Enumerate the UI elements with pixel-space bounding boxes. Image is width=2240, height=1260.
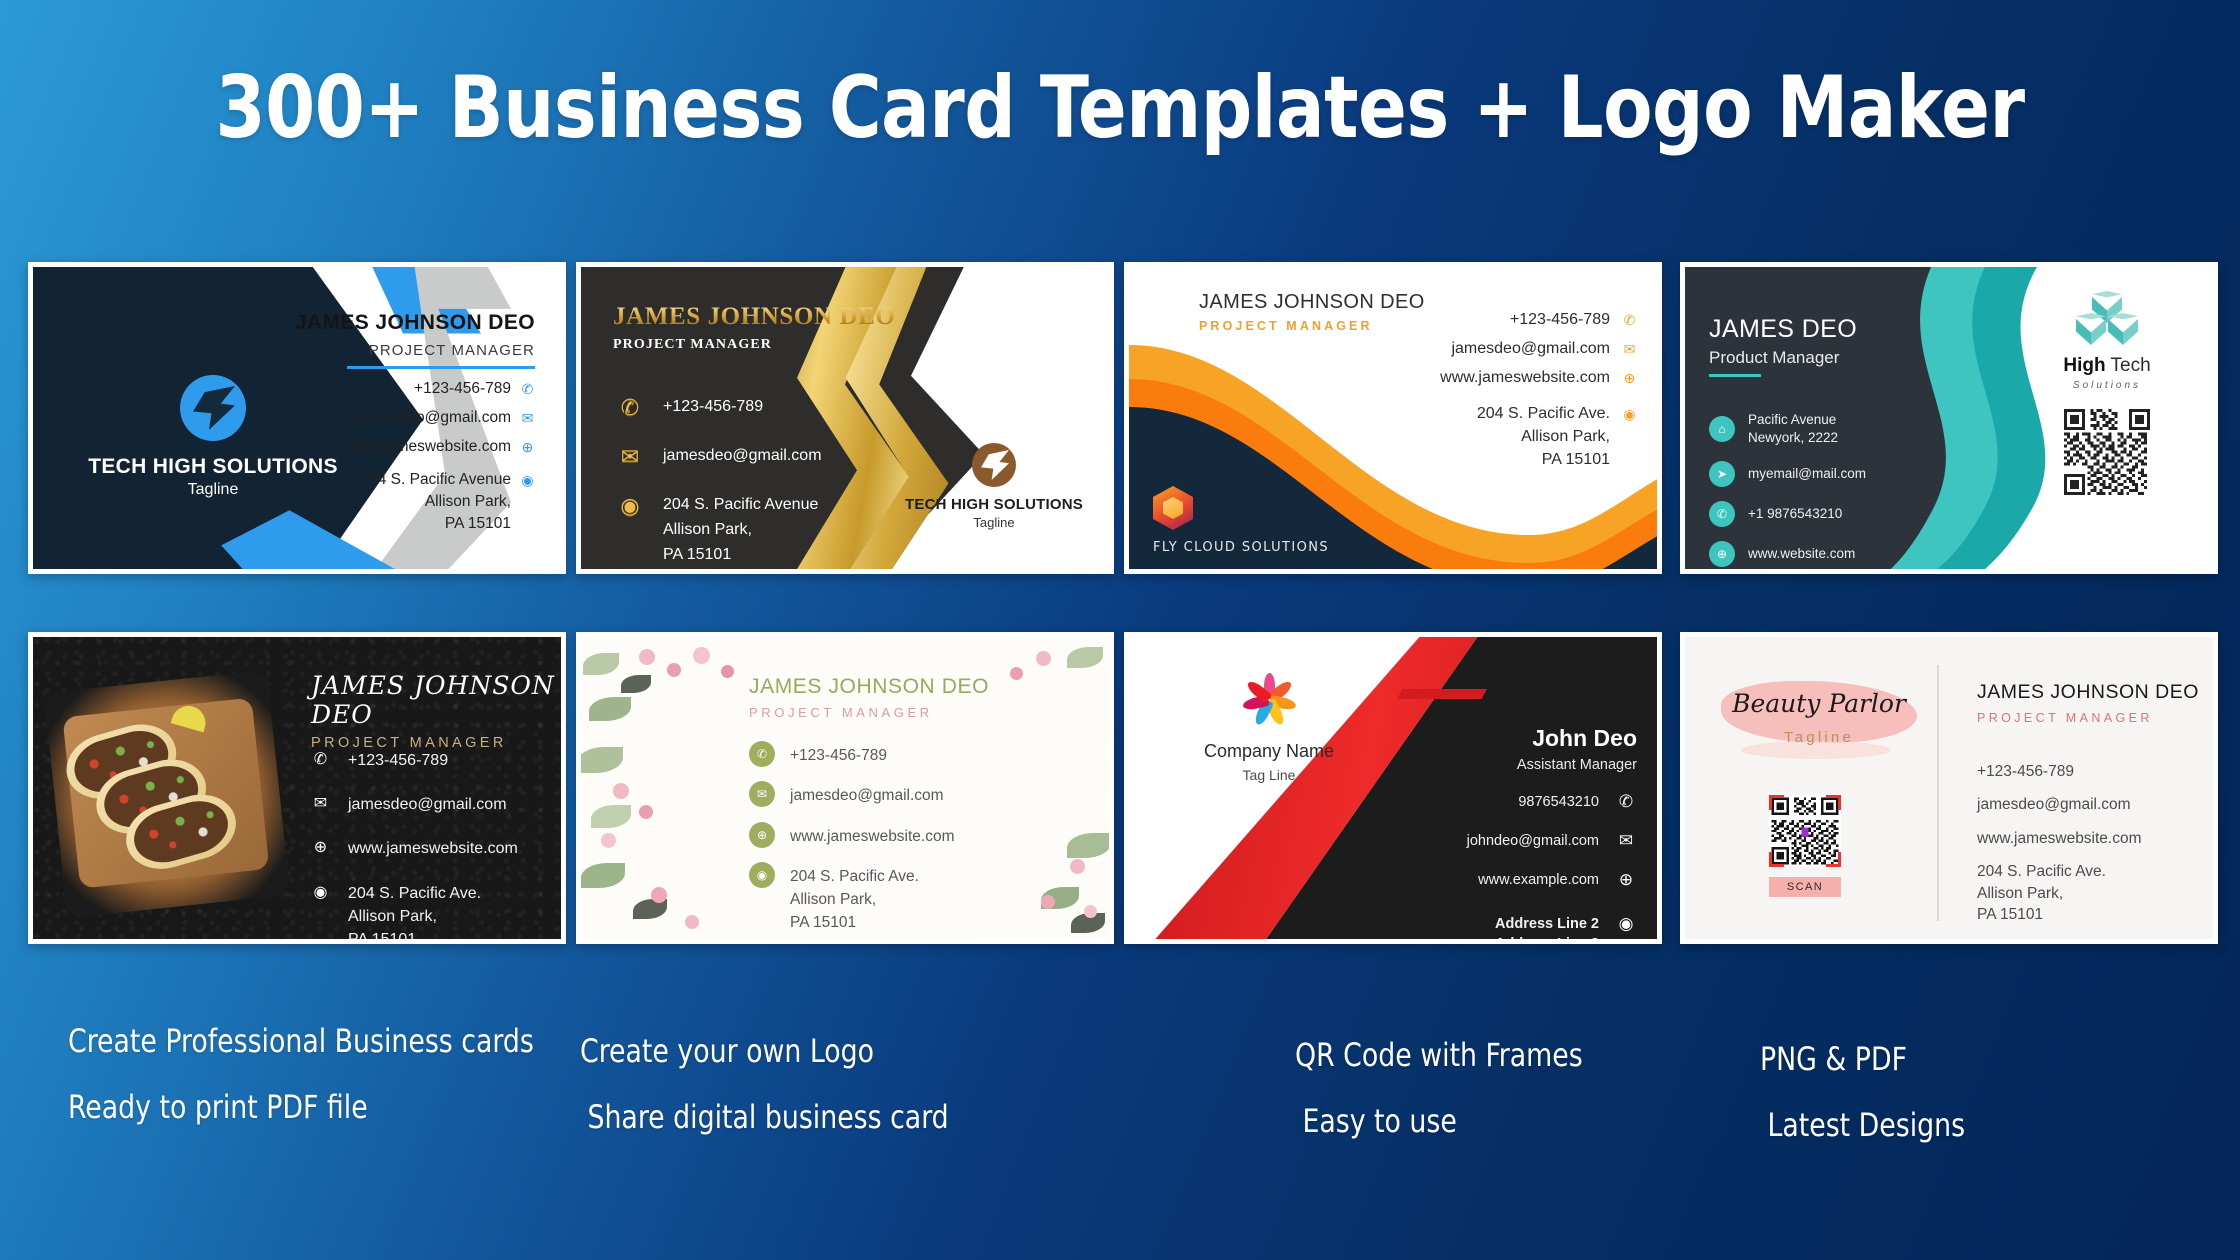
address-row: 204 S. Pacific Avenue ◉ bbox=[285, 471, 535, 489]
email-row: ✉ jamesdeo@gmail.com bbox=[311, 793, 518, 816]
address-line-3: PA 15101 bbox=[790, 914, 856, 931]
email-row: ➤ myemail@mail.com bbox=[1709, 461, 1866, 487]
phone-row: ✆ +123-456-789 bbox=[749, 741, 955, 767]
phone-icon: ✆ bbox=[1622, 312, 1637, 329]
phone-icon: ✆ bbox=[520, 381, 535, 398]
feature-text: PNG & PDF bbox=[1760, 1040, 1965, 1078]
website-value: www.jameswebsite.com bbox=[346, 438, 511, 456]
business-card-tech-high-solutions-gold[interactable]: JAMES JOHNSON DEO PROJECT MANAGER ✆ +123… bbox=[576, 262, 1114, 574]
phone-row: ✆ +1 9876543210 bbox=[1709, 501, 1866, 527]
email-value: jamesdeo@gmail.com bbox=[663, 444, 822, 469]
business-card-food-restaurant-dark[interactable]: JAMES JOHNSON DEO PROJECT MANAGER ✆ +123… bbox=[28, 632, 566, 944]
email-icon: ✉ bbox=[749, 781, 775, 807]
card-contact-info: ✆ +123-456-789 ✉ jamesdeo@gmail.com ⊕ ww… bbox=[749, 741, 955, 939]
card-logo-block: TECH HIGH SOLUTIONS Tagline bbox=[889, 443, 1099, 530]
card-contact-info: ⌂ Pacific Avenue Newyork, 2222 ➤ myemail… bbox=[1709, 411, 1866, 569]
address-line-2: Allison Park, bbox=[1977, 883, 2142, 904]
card-contact-info: +123-456-789 ✆ jamesdeo@gmail.com ✉ www.… bbox=[1385, 311, 1637, 469]
feature-column-3: QR Code with Frames Easy to use bbox=[1295, 1036, 1583, 1168]
phone-row: +123-456-789 ✆ bbox=[285, 380, 535, 398]
email-icon: ✉ bbox=[617, 444, 643, 470]
address-row: ◉ 204 S. Pacific Ave. Allison Park, PA 1… bbox=[311, 882, 518, 939]
card-logo-block: FLY CLOUD SOLUTIONS bbox=[1153, 486, 1329, 555]
phone-value: +123-456-789 bbox=[1510, 311, 1610, 329]
person-name: JAMES JOHNSON DEO bbox=[749, 675, 989, 699]
qr-code-block[interactable]: SCAN bbox=[1769, 795, 1841, 897]
hexagon-cube-logo-icon bbox=[1153, 486, 1193, 530]
address-line-1: 204 S. Pacific Avenue bbox=[360, 471, 511, 489]
email-value: myemail@mail.com bbox=[1748, 465, 1866, 483]
phone-icon: ✆ bbox=[1615, 792, 1637, 812]
person-role: PROJECT MANAGER bbox=[613, 337, 895, 353]
address-line-2: Allison Park, bbox=[348, 908, 437, 925]
address-line-3: PA 15101 bbox=[1385, 451, 1637, 469]
website-row: ⊕ www.jameswebsite.com bbox=[311, 837, 518, 860]
address-block: 204 S. Pacific Ave. Allison Park, PA 151… bbox=[348, 882, 481, 939]
website-row: www.jameswebsite.com ⊕ bbox=[1385, 369, 1637, 387]
card-contact-info: John Deo Assistant Manager 9876543210 ✆ … bbox=[1387, 725, 1637, 939]
address-row: 204 S. Pacific Ave. ◉ bbox=[1385, 405, 1637, 423]
company-tagline: Tag Line bbox=[1165, 767, 1373, 783]
email-value: jamesdeo@gmail.com bbox=[1451, 340, 1610, 358]
address-line-3: PA 15101 bbox=[663, 546, 731, 563]
feature-text: Latest Designs bbox=[1760, 1106, 1965, 1144]
address-block: 204 S. Pacific Avenue Allison Park, PA 1… bbox=[663, 493, 818, 567]
swoosh-logo-icon bbox=[972, 443, 1016, 487]
card-header: JAMES JOHNSON DEO PROJECT MANAGER bbox=[1977, 681, 2199, 725]
feature-column-4: PNG & PDF Latest Designs bbox=[1760, 1040, 1965, 1172]
feature-text: QR Code with Frames bbox=[1295, 1036, 1583, 1074]
location-pin-icon: ◉ bbox=[1615, 914, 1637, 934]
location-pin-icon: ◉ bbox=[520, 472, 535, 489]
phone-row: ✆ +123-456-789 bbox=[617, 395, 822, 421]
feature-text: Ready to print PDF file bbox=[68, 1088, 534, 1126]
phone-icon: ✆ bbox=[311, 749, 330, 769]
card-header: JAMES JOHNSON DEO PROJECT MANAGER bbox=[749, 675, 989, 720]
company-tagline: Tagline bbox=[889, 515, 1099, 530]
person-name: JAMES JOHNSON DEO bbox=[311, 671, 561, 729]
email-icon: ✉ bbox=[1615, 831, 1637, 851]
divider bbox=[1709, 374, 1761, 377]
qr-code-icon bbox=[2064, 409, 2150, 495]
website-value: www.jameswebsite.com bbox=[790, 822, 955, 848]
star-flower-logo-icon bbox=[1242, 673, 1296, 727]
person-name: JAMES JOHNSON DEO bbox=[1977, 681, 2199, 704]
qr-frame-corner-tl bbox=[1769, 795, 1784, 810]
card-contact-info: +123-456-789 jamesdeo@gmail.com www.jame… bbox=[1977, 761, 2142, 937]
address-line-1: 204 S. Pacific Ave. bbox=[1977, 861, 2142, 882]
feature-list: Create Professional Business cards Ready… bbox=[0, 1000, 2240, 1200]
globe-icon: ⊕ bbox=[311, 837, 330, 857]
person-name: JAMES JOHNSON DEO bbox=[613, 303, 895, 331]
email-value: johndeo@gmail.com bbox=[1467, 833, 1599, 849]
card-contact-info: JAMES JOHNSON DEO PROJECT MANAGER +123-4… bbox=[285, 311, 535, 533]
location-pin-icon: ◉ bbox=[1622, 406, 1637, 423]
location-pin-icon: ◉ bbox=[749, 862, 775, 888]
company-name: FLY CLOUD SOLUTIONS bbox=[1153, 540, 1329, 555]
email-icon: ✉ bbox=[520, 410, 535, 427]
company-name: High Tech bbox=[2017, 355, 2197, 377]
card-header: JAMES JOHNSON DEO PROJECT MANAGER bbox=[613, 303, 895, 353]
location-pin-icon: ◉ bbox=[617, 493, 643, 519]
phone-value: +123-456-789 bbox=[348, 749, 448, 772]
address-line-2: Allison Park, bbox=[285, 493, 535, 511]
address-line-1: Pacific Avenue bbox=[1748, 412, 1836, 427]
red-tab-shape bbox=[1397, 689, 1487, 699]
company-name-bold: High bbox=[2063, 355, 2105, 376]
address-line-1: 204 S. Pacific Avenue bbox=[663, 496, 818, 513]
person-role: PROJECT MANAGER bbox=[285, 342, 535, 359]
email-value: jamesdeo@gmail.com bbox=[790, 781, 944, 807]
phone-value: +123-456-789 bbox=[414, 380, 511, 398]
address-row: ◉ 204 S. Pacific Ave. Allison Park, PA 1… bbox=[749, 862, 955, 935]
person-name: JAMES DEO bbox=[1709, 315, 1857, 344]
card-row-1: TECH HIGH SOLUTIONS Tagline JAMES JOHNSO… bbox=[0, 262, 2240, 574]
globe-icon: ⊕ bbox=[1615, 870, 1637, 890]
qr-code-framed bbox=[1769, 795, 1841, 867]
scan-label: SCAN bbox=[1769, 877, 1841, 897]
address-row: ⌂ Pacific Avenue Newyork, 2222 bbox=[1709, 411, 1866, 447]
email-icon: ✉ bbox=[311, 793, 330, 813]
website-row: ⊕ www.jameswebsite.com bbox=[749, 822, 955, 848]
address-line-1: 204 S. Pacific Ave. bbox=[1477, 405, 1610, 423]
website-value: www.jameswebsite.com bbox=[348, 837, 518, 860]
swoosh-logo-icon bbox=[180, 375, 246, 441]
globe-icon: ⊕ bbox=[749, 822, 775, 848]
person-role: Product Manager bbox=[1709, 348, 1857, 368]
card-row-2: JAMES JOHNSON DEO PROJECT MANAGER ✆ +123… bbox=[0, 632, 2240, 944]
business-card-floral-watercolor[interactable]: JAMES JOHNSON DEO PROJECT MANAGER ✆ +123… bbox=[576, 632, 1114, 944]
card-logo-block: Company Name Tag Line bbox=[1165, 673, 1373, 783]
address-block: Pacific Avenue Newyork, 2222 bbox=[1748, 411, 1838, 447]
qr-frame-corner-bl bbox=[1769, 852, 1784, 867]
globe-icon: ⊕ bbox=[1622, 370, 1637, 387]
person-name: John Deo bbox=[1387, 725, 1637, 752]
address-line-1: Address Line 2 bbox=[1495, 916, 1599, 932]
website-value: www.example.com bbox=[1478, 872, 1599, 888]
vertical-divider bbox=[1937, 665, 1939, 921]
feature-column-1: Create Professional Business cards Ready… bbox=[68, 1022, 534, 1154]
company-name: TECH HIGH SOLUTIONS bbox=[889, 496, 1099, 513]
address-line-2: Allison Park, bbox=[790, 891, 876, 908]
phone-icon: ✆ bbox=[617, 395, 643, 421]
email-row: johndeo@gmail.com ✉ bbox=[1387, 831, 1637, 851]
feature-text: Create Professional Business cards bbox=[68, 1022, 534, 1060]
feature-text: Easy to use bbox=[1295, 1102, 1583, 1140]
feature-text: Create your own Logo bbox=[580, 1032, 949, 1070]
person-role: Assistant Manager bbox=[1387, 757, 1637, 773]
business-card-beauty-parlor-qr[interactable]: Beauty Parlor Tagline bbox=[1680, 632, 2218, 944]
divider bbox=[347, 366, 535, 369]
website-value: www.jameswebsite.com bbox=[1977, 828, 2142, 849]
business-card-grid: TECH HIGH SOLUTIONS Tagline JAMES JOHNSO… bbox=[0, 262, 2240, 944]
company-name-light: Tech bbox=[2111, 355, 2151, 376]
email-value: jamesdeo@gmail.com bbox=[1977, 794, 2142, 815]
phone-value: +1 9876543210 bbox=[1748, 505, 1842, 523]
person-role: PROJECT MANAGER bbox=[1977, 711, 2199, 725]
globe-icon: ⊕ bbox=[520, 439, 535, 456]
business-card-tech-high-solutions-blue[interactable]: TECH HIGH SOLUTIONS Tagline JAMES JOHNSO… bbox=[28, 262, 566, 574]
food-photo bbox=[44, 670, 290, 918]
company-name: Beauty Parlor bbox=[1719, 689, 1919, 718]
feature-text: Share digital business card bbox=[580, 1098, 949, 1136]
company-tagline: Tagline bbox=[1719, 729, 1919, 746]
email-row: ✉ jamesdeo@gmail.com bbox=[617, 444, 822, 470]
address-line-1: 204 S. Pacific Ave. bbox=[790, 868, 919, 885]
phone-row: 9876543210 ✆ bbox=[1387, 792, 1637, 812]
cubes-logo-icon bbox=[2070, 291, 2144, 349]
person-name: JAMES JOHNSON DEO bbox=[285, 311, 535, 335]
address-line-3: PA 15101 bbox=[285, 515, 535, 533]
card-header: JAMES DEO Product Manager bbox=[1709, 315, 1857, 377]
address-line-2: Newyork, 2222 bbox=[1748, 430, 1838, 445]
website-value: www.website.com bbox=[1748, 545, 1855, 563]
website-row: ⊕ www.website.com bbox=[1709, 541, 1866, 567]
phone-icon: ✆ bbox=[1709, 501, 1735, 527]
phone-icon: ✆ bbox=[749, 741, 775, 767]
email-row: jamesdeo@gmail.com ✉ bbox=[1385, 340, 1637, 358]
phone-value: +123-456-789 bbox=[790, 741, 887, 767]
company-subtitle: Solutions bbox=[2017, 380, 2197, 391]
address-row: ◉ 204 S. Pacific Avenue Allison Park, PA… bbox=[617, 493, 822, 567]
location-pin-icon: ◉ bbox=[311, 882, 330, 902]
qr-frame-corner-tr bbox=[1826, 795, 1841, 810]
business-card-fly-cloud-solutions[interactable]: JAMES JOHNSON DEO PROJECT MANAGER +123-4… bbox=[1124, 262, 1662, 574]
email-value: jamesdeo@gmail.com bbox=[357, 409, 511, 427]
address-line-2: Address Line 3 bbox=[1387, 936, 1637, 939]
address-line-3: PA 15101 bbox=[1977, 904, 2142, 925]
phone-value: +123-456-789 bbox=[663, 395, 763, 420]
website-value: www.jameswebsite.com bbox=[1440, 369, 1610, 387]
business-card-high-tech-solutions[interactable]: JAMES DEO Product Manager ⌂ Pacific Aven… bbox=[1680, 262, 2218, 574]
card-contact-info: ✆ +123-456-789 ✉ jamesdeo@gmail.com ◉ 20… bbox=[617, 395, 822, 569]
address-line-2: Allison Park, bbox=[663, 521, 752, 538]
email-row: jamesdeo@gmail.com ✉ bbox=[285, 409, 535, 427]
page-title: 300+ Business Card Templates + Logo Make… bbox=[78, 58, 2161, 158]
email-row: ✉ jamesdeo@gmail.com bbox=[749, 781, 955, 807]
address-line-2: Allison Park, bbox=[1385, 428, 1637, 446]
cursor-icon: ➤ bbox=[1709, 461, 1735, 487]
address-line-1: 204 S. Pacific Ave. bbox=[348, 885, 481, 902]
phone-value: +123-456-789 bbox=[1977, 761, 2142, 782]
card-logo-block: High Tech Solutions bbox=[2017, 291, 2197, 500]
website-row: www.example.com ⊕ bbox=[1387, 870, 1637, 890]
phone-row: +123-456-789 ✆ bbox=[1385, 311, 1637, 329]
card-header: JAMES JOHNSON DEO PROJECT MANAGER bbox=[311, 671, 561, 751]
business-card-red-black-diagonal[interactable]: Company Name Tag Line John Deo Assistant… bbox=[1124, 632, 1662, 944]
phone-row: ✆ +123-456-789 bbox=[311, 749, 518, 772]
email-value: jamesdeo@gmail.com bbox=[348, 793, 507, 816]
globe-icon: ⊕ bbox=[1709, 541, 1735, 567]
person-role: PROJECT MANAGER bbox=[749, 705, 989, 720]
home-icon: ⌂ bbox=[1709, 416, 1735, 442]
address-block: 204 S. Pacific Ave. Allison Park, PA 151… bbox=[790, 862, 919, 935]
website-row: www.jameswebsite.com ⊕ bbox=[285, 438, 535, 456]
feature-column-2: Create your own Logo Share digital busin… bbox=[580, 1032, 949, 1164]
card-contact-info: ✆ +123-456-789 ✉ jamesdeo@gmail.com ⊕ ww… bbox=[311, 749, 518, 939]
address-line-3: PA 15101 bbox=[348, 931, 416, 939]
company-name: Company Name bbox=[1165, 741, 1373, 762]
phone-value: 9876543210 bbox=[1518, 794, 1599, 810]
qr-frame-corner-br bbox=[1826, 852, 1841, 867]
email-icon: ✉ bbox=[1622, 341, 1637, 358]
address-row: Address Line 2 ◉ bbox=[1387, 914, 1637, 934]
